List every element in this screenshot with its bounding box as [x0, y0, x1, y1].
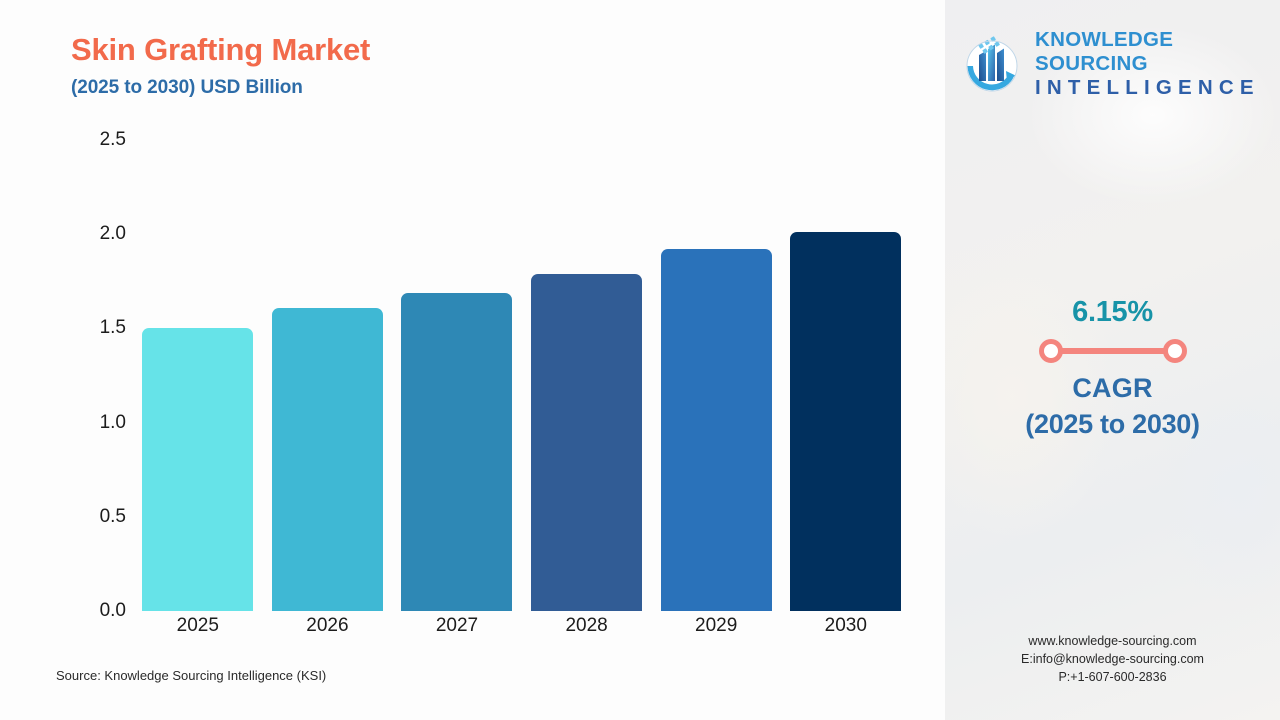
- bar-slot: [522, 140, 652, 611]
- source-note: Source: Knowledge Sourcing Intelligence …: [56, 668, 326, 683]
- bar-slot: [133, 140, 263, 611]
- bar-slot: [263, 140, 393, 611]
- cagr-value: 6.15%: [945, 296, 1280, 329]
- x-axis-label: 2028: [522, 611, 652, 640]
- knowledge-sourcing-logo-icon: [959, 31, 1025, 97]
- y-axis-tick: 1.5: [71, 317, 126, 339]
- cagr-period: (2025 to 2030): [945, 409, 1280, 440]
- bar-2028[interactable]: [531, 274, 642, 611]
- page-subtitle: (2025 to 2030) USD Billion: [71, 77, 370, 99]
- bar-slot: [651, 140, 781, 611]
- brand-logo-text: KNOWLEDGE SOURCING INTELLIGENCE: [1035, 28, 1269, 101]
- contact-email: E:info@knowledge-sourcing.com: [945, 651, 1280, 669]
- bar-chart: 0.00.51.01.52.02.5 202520262027202820292…: [71, 140, 911, 640]
- x-axis-label: 2026: [263, 611, 393, 640]
- bar-slot: [781, 140, 911, 611]
- y-axis-tick: 0.0: [71, 600, 126, 622]
- contact-block: www.knowledge-sourcing.com E:info@knowle…: [945, 633, 1280, 686]
- contact-phone: P:+1-607-600-2836: [945, 669, 1280, 687]
- page-title: Skin Grafting Market: [71, 33, 370, 68]
- cagr-block: 6.15% CAGR (2025 to 2030): [945, 296, 1280, 440]
- bar-2025[interactable]: [142, 328, 253, 611]
- x-axis-label: 2027: [392, 611, 522, 640]
- y-axis-tick: 0.5: [71, 506, 126, 528]
- cagr-label: CAGR: [945, 373, 1280, 404]
- bar-slot: [392, 140, 522, 611]
- brand-logo-line1: KNOWLEDGE SOURCING: [1035, 28, 1269, 76]
- chart-panel: Skin Grafting Market (2025 to 2030) USD …: [0, 0, 945, 720]
- x-axis-label: 2030: [781, 611, 911, 640]
- contact-website: www.knowledge-sourcing.com: [945, 633, 1280, 651]
- infographic-page: Skin Grafting Market (2025 to 2030) USD …: [0, 0, 1280, 720]
- bars-area: [133, 140, 911, 611]
- y-axis-tick: 1.0: [71, 412, 126, 434]
- bar-2030[interactable]: [790, 232, 901, 611]
- brand-logo-line2: INTELLIGENCE: [1035, 76, 1269, 100]
- x-axis-label: 2029: [651, 611, 781, 640]
- bar-2029[interactable]: [661, 249, 772, 611]
- y-axis: 0.00.51.01.52.02.5: [71, 140, 126, 640]
- x-axis-label: 2025: [133, 611, 263, 640]
- cagr-connector-icon: [945, 329, 1280, 373]
- brand-logo: KNOWLEDGE SOURCING INTELLIGENCE: [959, 28, 1269, 100]
- bar-2026[interactable]: [272, 308, 383, 611]
- bar-2027[interactable]: [401, 293, 512, 611]
- title-block: Skin Grafting Market (2025 to 2030) USD …: [71, 33, 370, 99]
- brand-panel: KNOWLEDGE SOURCING INTELLIGENCE 6.15% CA…: [945, 0, 1280, 720]
- y-axis-tick: 2.0: [71, 223, 126, 245]
- x-axis: 202520262027202820292030: [133, 611, 911, 640]
- y-axis-tick: 2.5: [71, 129, 126, 151]
